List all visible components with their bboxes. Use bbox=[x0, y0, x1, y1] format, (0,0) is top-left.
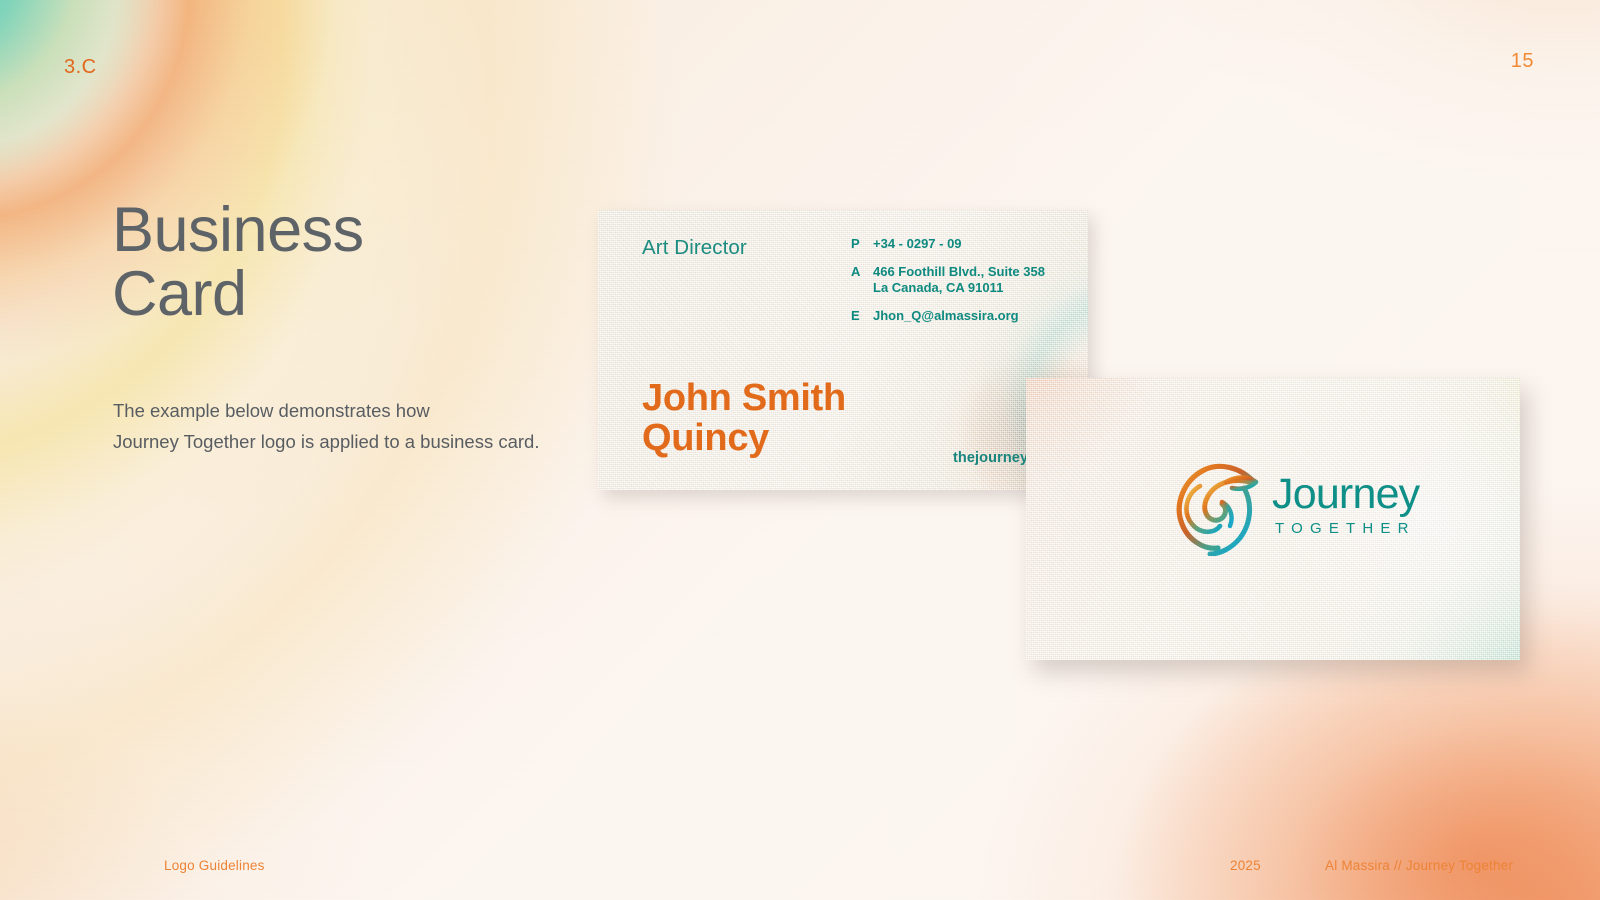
journey-spiral-mark bbox=[1164, 456, 1260, 556]
slide-footer: Logo Guidelines 2025 Al Massira // Journ… bbox=[0, 840, 1600, 900]
page-title: Business Card bbox=[112, 198, 364, 327]
journey-together-logo: Journey TOGETHER bbox=[1164, 456, 1419, 556]
footer-year: 2025 bbox=[1230, 858, 1261, 873]
contact-value-email: Jhon_Q@almassira.org bbox=[873, 308, 1019, 325]
page-number: 15 bbox=[1511, 50, 1534, 73]
section-number: 3.C bbox=[64, 56, 97, 79]
contact-row-phone: P +34 - 0297 - 09 bbox=[851, 236, 1045, 253]
logo-tagline: TOGETHER bbox=[1275, 520, 1419, 537]
contact-value-phone: +34 - 0297 - 09 bbox=[873, 236, 962, 253]
business-card-front[interactable]: Art Director P +34 - 0297 - 09 A 466 Foo… bbox=[598, 210, 1088, 490]
contact-label-address: A bbox=[851, 264, 873, 297]
card-role-title: Art Director bbox=[642, 236, 747, 260]
business-card-back[interactable]: Journey TOGETHER bbox=[1026, 378, 1520, 660]
card-contact-block: P +34 - 0297 - 09 A 466 Foothill Blvd., … bbox=[851, 236, 1045, 336]
footer-document-label: Logo Guidelines bbox=[164, 858, 265, 873]
contact-label-email: E bbox=[851, 308, 873, 325]
logo-wordmark-group: Journey TOGETHER bbox=[1272, 475, 1419, 538]
logo-wordmark: Journey bbox=[1272, 475, 1419, 515]
slide-canvas: 3.C 15 Business Card The example below d… bbox=[0, 0, 1600, 900]
contact-row-address: A 466 Foothill Blvd., Suite 358 La Canad… bbox=[851, 264, 1045, 297]
contact-row-email: E Jhon_Q@almassira.org bbox=[851, 308, 1045, 325]
footer-brand: Al Massira // Journey Together bbox=[1325, 858, 1513, 873]
contact-value-address: 466 Foothill Blvd., Suite 358 La Canada,… bbox=[873, 264, 1045, 297]
page-description: The example below demonstrates how Journ… bbox=[113, 396, 539, 457]
card-website: thejourney. bbox=[953, 450, 1031, 466]
contact-label-phone: P bbox=[851, 236, 873, 253]
card-person-name: John Smith Quincy bbox=[642, 378, 846, 459]
